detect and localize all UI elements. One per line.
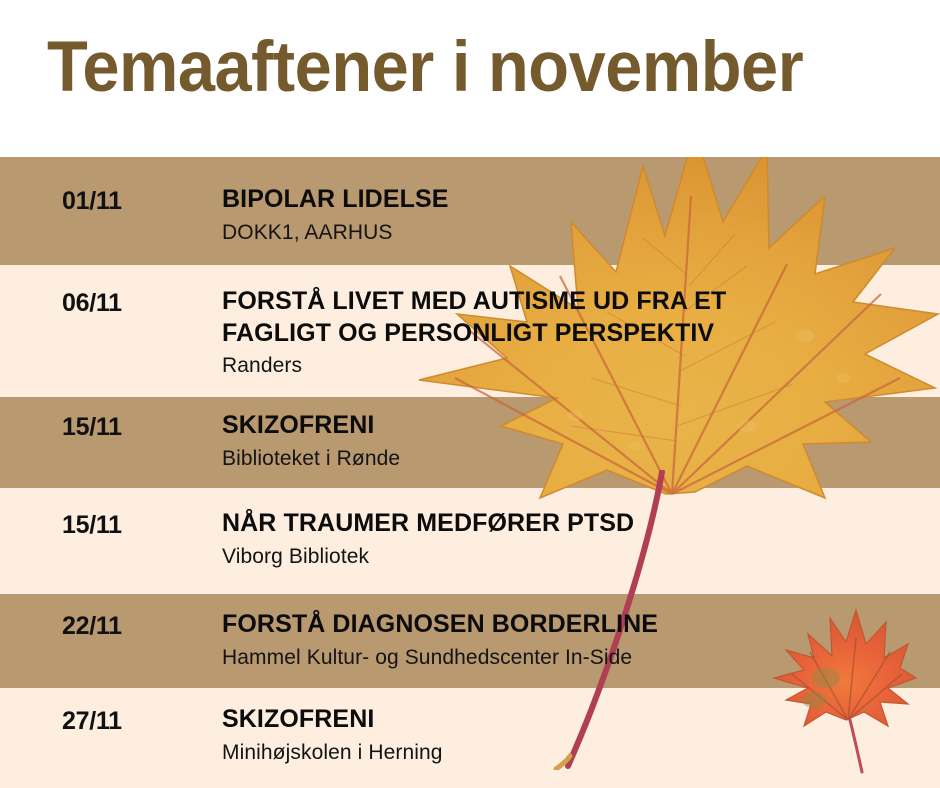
- event-row[interactable]: 06/11 FORSTÅ LIVET MED AUTISME UD FRA ET…: [0, 265, 940, 397]
- event-date: 15/11: [62, 511, 122, 540]
- event-body: SKIZOFRENI Minihøjskolen i Herning: [222, 704, 930, 766]
- poster-canvas: Temaaftener i november 01/11 BIPOLAR LID…: [0, 0, 940, 788]
- poster-header: Temaaftener i november: [0, 0, 940, 157]
- event-title-line-2: FAGLIGT OG PERSONLIGT PERSPEKTIV: [222, 318, 930, 350]
- event-body: SKIZOFRENI Biblioteket i Rønde: [222, 410, 930, 472]
- event-body: NÅR TRAUMER MEDFØRER PTSD Viborg Bibliot…: [222, 508, 930, 570]
- event-date: 06/11: [62, 289, 122, 318]
- event-row[interactable]: 27/11 SKIZOFRENI Minihøjskolen i Herning: [0, 688, 940, 788]
- event-title: SKIZOFRENI: [222, 410, 930, 442]
- page-title: Temaaftener i november: [47, 29, 803, 107]
- event-title: BIPOLAR LIDELSE: [222, 184, 930, 216]
- event-date: 15/11: [62, 413, 122, 442]
- event-venue: Viborg Bibliotek: [222, 543, 930, 570]
- event-venue: DOKK1, AARHUS: [222, 219, 930, 246]
- event-date: 01/11: [62, 187, 122, 216]
- event-body: FORSTÅ DIAGNOSEN BORDERLINE Hammel Kultu…: [222, 609, 930, 671]
- event-venue: Hammel Kultur- og Sundhedscenter In-Side: [222, 644, 930, 671]
- event-row[interactable]: 01/11 BIPOLAR LIDELSE DOKK1, AARHUS: [0, 157, 940, 265]
- event-row[interactable]: 15/11 SKIZOFRENI Biblioteket i Rønde: [0, 397, 940, 488]
- event-row[interactable]: 22/11 FORSTÅ DIAGNOSEN BORDERLINE Hammel…: [0, 594, 940, 688]
- event-title: NÅR TRAUMER MEDFØRER PTSD: [222, 508, 930, 540]
- event-title-line-1: FORSTÅ LIVET MED AUTISME UD FRA ET: [222, 286, 930, 318]
- event-venue: Minihøjskolen i Herning: [222, 739, 930, 766]
- event-body: BIPOLAR LIDELSE DOKK1, AARHUS: [222, 184, 930, 246]
- event-body: FORSTÅ LIVET MED AUTISME UD FRA ET FAGLI…: [222, 286, 930, 379]
- event-date: 27/11: [62, 707, 122, 736]
- event-date: 22/11: [62, 612, 122, 641]
- event-title: FORSTÅ DIAGNOSEN BORDERLINE: [222, 609, 930, 641]
- event-row[interactable]: 15/11 NÅR TRAUMER MEDFØRER PTSD Viborg B…: [0, 488, 940, 594]
- event-venue: Biblioteket i Rønde: [222, 445, 930, 472]
- event-title: SKIZOFRENI: [222, 704, 930, 736]
- event-venue: Randers: [222, 352, 930, 379]
